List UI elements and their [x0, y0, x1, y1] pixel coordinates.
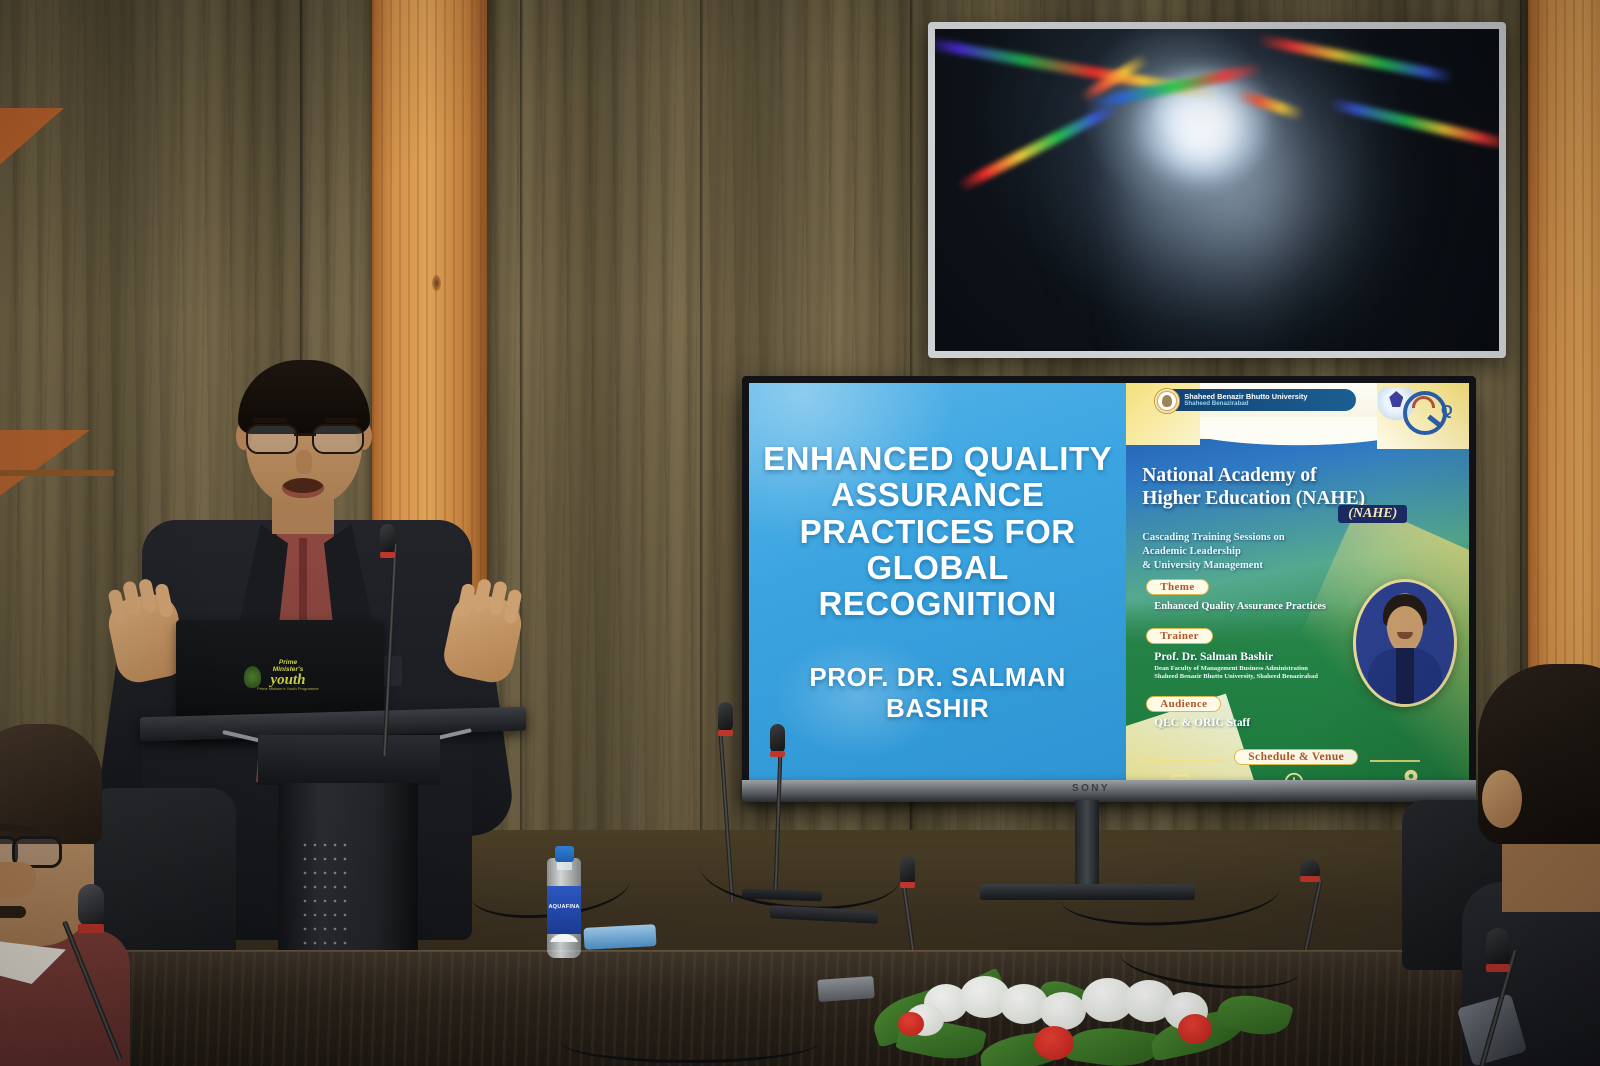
attendee-ear — [1482, 770, 1522, 828]
podium-body — [258, 735, 440, 785]
water-bottle[interactable]: AQUAFINA — [547, 840, 581, 958]
mic-head — [78, 884, 104, 928]
blue-case-object[interactable] — [583, 924, 656, 950]
mic-head — [1486, 928, 1510, 968]
nahe-acronym-chip: (NAHE) — [1338, 505, 1407, 523]
slide-panel: ENHANCED QUALITY ASSURANCE PRACTICES FOR… — [749, 383, 1126, 791]
trainer-affiliation-line1: Dean Faculty of Management Business Admi… — [1154, 665, 1318, 673]
qec-logo-icon: Q — [1403, 389, 1465, 435]
wall-triangle-accent — [0, 108, 64, 170]
slide-presenter-name: PROF. DR. SALMAN BASHIR — [757, 662, 1119, 724]
flower-arrangement — [872, 940, 1292, 1066]
audience-label-badge: Audience — [1146, 696, 1221, 712]
eyeglass-bridge — [294, 433, 316, 436]
laptop-sticker: Prime Minister's youth Prime Minister's … — [238, 660, 338, 694]
mic-band — [380, 552, 395, 558]
trainer-label-badge: Trainer — [1146, 628, 1213, 644]
remote-control[interactable] — [817, 976, 874, 1002]
schedule-divider-right — [1370, 760, 1420, 762]
mic-head — [718, 702, 733, 732]
pillar-knot — [432, 275, 441, 291]
white-flower — [1040, 992, 1086, 1030]
poster-heading-line2: Higher Education (NAHE) — [1142, 488, 1469, 511]
pillar-grain — [1528, 0, 1600, 690]
bottle-cap — [555, 846, 574, 862]
attendee-eyeglasses — [0, 836, 60, 864]
trainer-name: Prof. Dr. Salman Bashir — [1154, 650, 1273, 663]
audience-member-front-left — [0, 724, 220, 1066]
event-poster: Shaheed Benazir Bhutto University Shahee… — [1126, 383, 1469, 791]
attendee-moustache — [0, 906, 26, 918]
speaker-eyebrow-right — [324, 418, 358, 423]
red-rose — [1034, 1026, 1074, 1060]
speaker-eyeglasses — [242, 424, 368, 450]
portrait-shirt — [1396, 648, 1414, 706]
youth-programme-emblem-icon — [244, 666, 261, 688]
tv-brand-label: SONY — [1072, 783, 1110, 794]
university-name-banner: Shaheed Benazir Bhutto University Shahee… — [1156, 389, 1356, 411]
university-campus: Shaheed Benazirabad — [1184, 401, 1307, 408]
poster-heading: National Academy of Higher Education (NA… — [1142, 465, 1469, 510]
speaker-eyebrow-left — [253, 418, 287, 423]
theme-label-badge: Theme — [1146, 579, 1208, 595]
finger — [503, 589, 523, 625]
mic-band — [78, 924, 104, 933]
schedule-label-badge: Schedule & Venue — [1234, 749, 1358, 765]
trainer-affiliation-line2: Shaheed Benazir Bhutto University, Shahe… — [1154, 673, 1318, 681]
theme-value: Enhanced Quality Assurance Practices — [1154, 601, 1326, 612]
poster-subtitle-line2: Academic Leadership — [1142, 545, 1409, 559]
leaf — [1066, 1022, 1160, 1066]
mic-band — [718, 730, 733, 736]
mic-band — [900, 882, 915, 888]
eyeglass-lens-right — [312, 424, 364, 454]
sticker-line4: Prime Minister's Youth Programme — [238, 687, 338, 691]
tv-bottom-bezel: SONY — [742, 780, 1476, 802]
speaker-nose — [296, 450, 312, 474]
trainer-portrait — [1353, 579, 1457, 707]
mic-band — [1486, 964, 1510, 972]
presentation-tv[interactable]: ENHANCED QUALITY ASSURANCE PRACTICES FOR… — [742, 376, 1476, 798]
speaker-mouth — [282, 478, 324, 498]
mic-head — [380, 524, 395, 554]
bottle-brand-text: AQUAFINA — [548, 904, 580, 910]
cable — [560, 1020, 820, 1063]
poster-subtitle: Cascading Training Sessions on Academic … — [1142, 531, 1409, 573]
poster-subtitle-line1: Cascading Training Sessions on — [1142, 531, 1409, 545]
mic-head — [770, 724, 785, 754]
wall-triangle-accent-lower — [0, 430, 90, 500]
wall-mounted-tv[interactable] — [928, 22, 1506, 358]
bottle-label: AQUAFINA — [547, 886, 581, 934]
qec-logo-text: Q — [1441, 402, 1453, 419]
eyeglass-lens-left — [246, 424, 298, 454]
poster-subtitle-line3: & University Management — [1142, 559, 1409, 573]
seminar-photograph: ENHANCED QUALITY ASSURANCE PRACTICES FOR… — [0, 0, 1600, 1066]
schedule-divider-left — [1140, 760, 1226, 762]
slide-title: ENHANCED QUALITY ASSURANCE PRACTICES FOR… — [760, 441, 1115, 622]
red-flower — [1178, 1014, 1212, 1044]
mic-band — [770, 751, 785, 757]
portrait-face — [1387, 606, 1423, 648]
attendee-neck — [1502, 832, 1600, 912]
mic-band — [1300, 876, 1320, 882]
audience-value: QEC & ORIC Staff — [1154, 717, 1250, 729]
tv-screen-surface — [935, 29, 1499, 351]
bottle-label-wave — [547, 932, 581, 942]
wall-pillar-orange-right — [1528, 0, 1600, 690]
presentation-screen: ENHANCED QUALITY ASSURANCE PRACTICES FOR… — [749, 383, 1469, 791]
trainer-affiliation: Dean Faculty of Management Business Admi… — [1154, 665, 1318, 682]
red-flower — [898, 1012, 924, 1036]
poster-heading-line1: National Academy of — [1142, 465, 1469, 488]
